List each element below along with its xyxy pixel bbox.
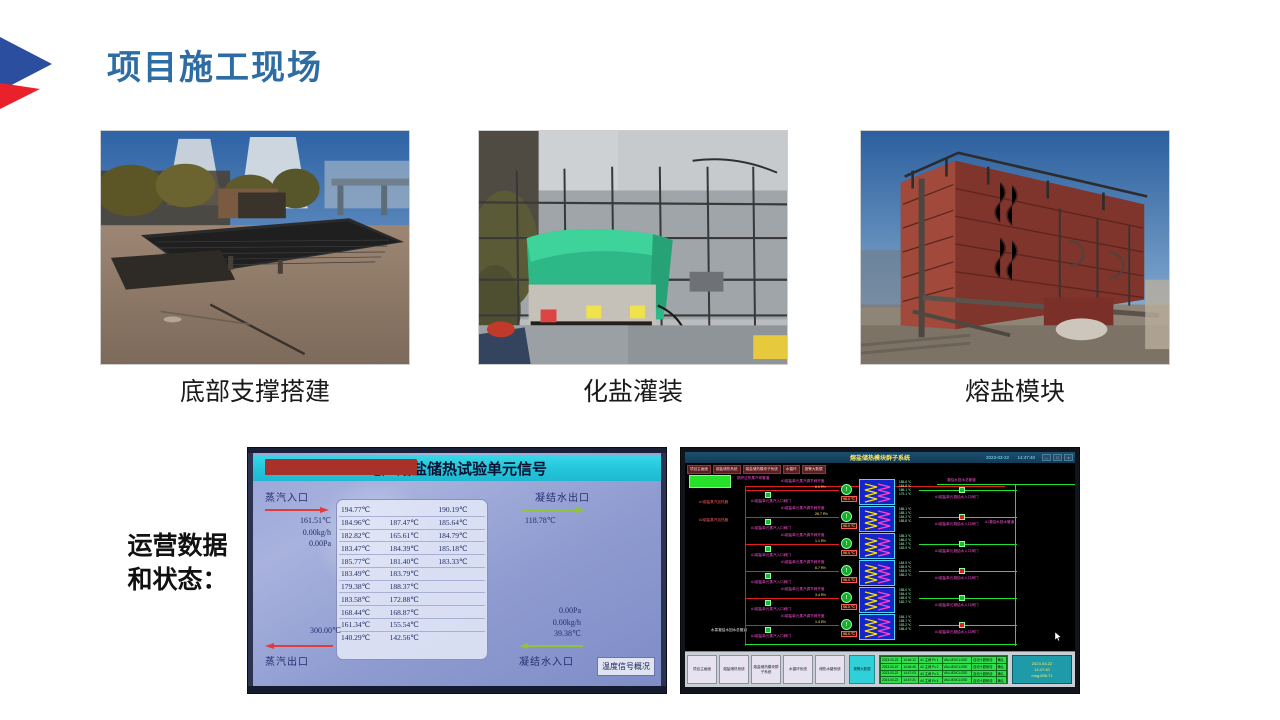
module-temperature-value: 185.8 ℃ [899, 519, 911, 523]
alarm-log-row[interactable]: 2023-03-2214:47:03#3 主阀 Pv 3VALUE0/CLOSE… [881, 670, 1007, 677]
steam-inlet-arrow [265, 507, 329, 513]
alarm-log-table: 2023-03-2214:46:12#1 主阀 Pv 1VALUE0/CLOSE… [880, 656, 1007, 684]
scada-nav-buttons[interactable]: 项目主画面熔盐储热系统熔盐储热模块群子系统水循环系统储热水罐系统 [685, 652, 847, 687]
temperature-cell: 168.44℃ [339, 606, 388, 619]
condensate-inlet-block: 凝结水入口 [519, 653, 574, 668]
scada-nav-button[interactable]: 项目主画面 [687, 655, 717, 684]
scada-menu-item[interactable]: 熔盐储热模块子系统 [743, 465, 781, 474]
module-inlet-flow-label: #1熔盐单元蒸汽调节阀开度 [781, 614, 825, 619]
scada-time: 14:47:40 [1017, 455, 1035, 460]
steam-riser-pipe [745, 486, 746, 646]
steam-outlet-block: 蒸汽出口 [265, 653, 309, 668]
scada-menu-item[interactable]: 熔盐储热系统 [713, 465, 741, 474]
scada-bottom-bar: 项目主画面熔盐储热系统熔盐储热模块群子系统水循环系统储热水罐系统 报警大数据 2… [685, 651, 1075, 687]
photo-foundation [100, 130, 410, 365]
alarm-log-cell: VALUE0/CLOSE [942, 663, 971, 670]
alarm-log-cell: 14:46:45 [902, 663, 919, 670]
photo-salt-filling [478, 130, 788, 365]
module-outlet-valve-icon[interactable] [959, 514, 965, 520]
temperature-cell: 183.79℃ [388, 567, 437, 580]
module-control-valve-icon[interactable]: ! [841, 511, 852, 522]
temperature-cell: 188.37℃ [388, 580, 437, 593]
module-condensate-branch-pipe [919, 490, 1017, 491]
module-inlet-temp-chip: 96.0 ℃ [841, 550, 857, 556]
temperature-cell: 172.88℃ [388, 593, 437, 606]
module-valve-square-icon[interactable] [765, 546, 771, 552]
module-inlet-temp-chip: 96.0 ℃ [841, 631, 857, 637]
module-control-valve-icon[interactable]: ! [841, 592, 852, 603]
module-valve-square-icon[interactable] [765, 519, 771, 525]
heat-exchanger-coil-icon [863, 536, 893, 558]
module-outlet-valve-label: #1熔盐单元凝结水入口阀门 [935, 549, 979, 554]
module-steam-branch-pipe [745, 544, 839, 545]
module-outlet-valve-icon[interactable] [959, 541, 965, 547]
module-inlet-valve-label: #1熔盐单元蒸汽入口阀门 [751, 499, 791, 504]
temperature-cell: 194.77℃ [339, 504, 388, 516]
alarm-log-cell: 自动十超驶动 [972, 670, 996, 677]
temperature-cell [436, 593, 485, 606]
module-condensate-branch-pipe [919, 598, 1017, 599]
condensate-inlet-flow: 0.00kg/h [515, 617, 581, 629]
module-valve-square-icon[interactable] [765, 573, 771, 579]
molten-salt-module-scada: 熔盐储热模块群子系统 2023-03-22 14:47:40 – □ × 项目主… [680, 447, 1080, 694]
steam-salt-unit-signal-hmi: 电厂熔盐储热试验单元信号 蒸汽入口 161.51℃ 0.00kg/h 0.00P… [247, 447, 667, 694]
module-temperature-readout: 184.9 ℃185.5 ℃183.6 ℃186.2 ℃ [899, 561, 911, 577]
alarm-log-cell: 2023-03-22 [881, 657, 902, 664]
module-temperature-value: 182.7 ℃ [899, 600, 911, 604]
temperature-row: 182.82℃165.61℃184.79℃ [339, 529, 485, 542]
salt-storage-module[interactable] [859, 614, 895, 640]
temperature-row: 183.49℃183.79℃ [339, 567, 485, 580]
condensate-outlet-block: 凝结水出口 [535, 489, 590, 504]
window-controls[interactable]: – □ × [1042, 454, 1073, 461]
temperature-row: 194.77℃190.19℃ [339, 504, 485, 516]
temperature-cell: 184.96℃ [339, 516, 388, 529]
alarm-log-row[interactable]: 2023-03-2214:46:45#2 主阀 Pv 2VALUE0/CLOSE… [881, 663, 1007, 670]
temperature-cell [436, 631, 485, 643]
alarm-log-cell: VALUE0/CLOSE [942, 677, 971, 684]
condensate-inlet-temperature: 39.38℃ [515, 628, 581, 640]
steam-outlet-label: 蒸汽出口 [265, 653, 309, 668]
temperature-cell [436, 567, 485, 580]
condensate-inlet-pressure: 0.00Pa [515, 605, 581, 617]
temperature-cell: 181.40℃ [388, 555, 437, 568]
temperature-cell: 140.29℃ [339, 631, 388, 643]
module-steam-branch-pipe [745, 490, 839, 491]
alarm-log-cell: #3 主阀 Pv 3 [919, 670, 942, 677]
condensate-outlet-label: 凝结水出口 [535, 489, 590, 504]
temperature-cell: 183.49℃ [339, 567, 388, 580]
caption-foundation: 底部支撑搭建 [100, 372, 410, 408]
temperature-row: 183.58℃172.88℃ [339, 593, 485, 606]
module-inlet-temp-chip: 96.0 ℃ [841, 523, 857, 529]
module-flow-value: 26.7 Rh [815, 512, 828, 516]
module-inlet-flow-label: #1熔盐单元蒸汽调节阀开度 [781, 506, 825, 511]
temperature-cell: 185.77℃ [339, 555, 388, 568]
steam-inlet-pressure: 0.00Pa [265, 538, 331, 550]
temperature-row: 184.96℃187.47℃185.64℃ [339, 516, 485, 529]
label-left-branch-1: #1熔盐蒸汽加热器 [699, 500, 728, 505]
temperature-cell: 155.54℃ [388, 619, 437, 632]
module-inlet-valve-label: #1熔盐单元蒸汽入口阀门 [751, 553, 791, 558]
alarm-log-cell: VALUE0/CLOSE [942, 657, 971, 664]
module-temperature-value: 179.1 ℃ [899, 492, 911, 496]
module-outlet-valve-icon[interactable] [959, 622, 965, 628]
heat-exchanger-coil-icon [863, 617, 893, 639]
label-header-steam-pipe: 锅炉过热蒸汽母管道 [737, 476, 769, 481]
salt-storage-module[interactable] [859, 479, 895, 505]
temperature-row: 168.44℃168.87℃ [339, 606, 485, 619]
module-flow-value: 3.4 Rh [815, 593, 826, 597]
module-condensate-branch-pipe [919, 517, 1017, 518]
module-steam-branch-pipe [745, 517, 839, 518]
temperature-signal-table: 194.77℃190.19℃184.96℃187.47℃185.64℃182.8… [336, 499, 488, 660]
alarm-log-cell: 确认 [996, 677, 1006, 684]
label-right-branch: #1凝结水回水管道 [985, 520, 1014, 525]
photo-salt-module [860, 130, 1170, 365]
steam-inlet-block: 蒸汽入口 [265, 489, 309, 504]
temperature-cell: 187.47℃ [388, 516, 437, 529]
ops-label-line2: 和状态： [95, 564, 260, 598]
close-icon[interactable]: × [1064, 454, 1073, 461]
mouse-cursor-icon [1055, 632, 1061, 641]
module-inlet-temp-chip: 96.0 ℃ [841, 577, 857, 583]
temperature-row: 161.34℃155.54℃ [339, 619, 485, 632]
steam-inlet-temperature: 161.51℃ [265, 515, 331, 527]
module-inlet-flow-label: #1熔盐单元蒸汽调节阀开度 [781, 587, 825, 592]
alarm-log-row[interactable]: 2023-03-2214:47:21#4 主阀 Pv 4VALUE0/CLOSE… [881, 677, 1007, 684]
condensate-riser-pipe [1015, 484, 1016, 646]
temperature-cell: 165.61℃ [388, 529, 437, 542]
module-temperature-readout: 185.6 ℃184.8 ℃186.1 ℃179.1 ℃ [899, 480, 911, 496]
module-inlet-flow-label: #1熔盐单元蒸汽调节阀开度 [781, 533, 825, 538]
temperature-cell: 179.38℃ [339, 580, 388, 593]
ops-data-label: 运营数据 和状态： [95, 530, 260, 598]
module-valve-square-icon[interactable] [765, 492, 771, 498]
alarm-log-cell: #1 主阀 Pv 1 [919, 657, 942, 664]
module-outlet-valve-icon[interactable] [959, 487, 965, 493]
temperature-overview-button[interactable]: 温度信号概况 [597, 657, 655, 676]
alarm-log-cell: 2023-03-22 [881, 670, 902, 677]
maximize-icon[interactable]: □ [1053, 454, 1062, 461]
temperature-cell: 161.34℃ [339, 619, 388, 632]
module-control-valve-icon[interactable]: ! [841, 538, 852, 549]
alarm-log-cell: 自动十超驶动 [972, 663, 996, 670]
status-box: 2023-03-22 14:47:40 msg:896:71 [1012, 655, 1072, 684]
heat-exchanger-coil-icon [863, 482, 893, 504]
redacted-plant-name [265, 459, 417, 475]
salt-storage-module[interactable] [859, 533, 895, 559]
alarm-log-cell: 确认 [996, 663, 1006, 670]
temperature-cell [436, 580, 485, 593]
module-flow-value: 6.0 Rh [815, 485, 826, 489]
company-chevron-logo [0, 27, 64, 115]
module-control-valve-icon[interactable]: ! [841, 565, 852, 576]
temperature-cell: 168.87℃ [388, 606, 437, 619]
alarm-log-cell: 确认 [996, 657, 1006, 664]
condensate-inlet-label: 凝结水入口 [519, 653, 574, 668]
caption-row: 底部支撑搭建 化盐灌装 熔盐模块 [0, 372, 1280, 408]
temperature-table: 194.77℃190.19℃184.96℃187.47℃185.64℃182.8… [339, 504, 485, 644]
module-temperature-value: 183.9 ℃ [899, 546, 911, 550]
scada-nav-button[interactable]: 熔盐储热模块群子系统 [751, 655, 781, 684]
steam-inlet-flow: 0.00kg/h [265, 527, 331, 539]
ops-label-line1: 运营数据 [127, 533, 227, 560]
module-outlet-valve-icon[interactable] [959, 568, 965, 574]
temperature-cell: 185.64℃ [436, 516, 485, 529]
module-outlet-valve-icon[interactable] [959, 595, 965, 601]
page-title: 项目施工现场 [107, 40, 323, 89]
heat-exchanger-coil-icon [863, 590, 893, 612]
module-condensate-branch-pipe [919, 625, 1017, 626]
temperature-cell: 182.82℃ [339, 529, 388, 542]
alarm-log-cell: 2023-03-22 [881, 663, 902, 670]
steam-outlet-temperature: 300.00℃ [267, 625, 341, 637]
alarm-log-cell: #4 主阀 Pv 4 [919, 677, 942, 684]
scada-title-bar: 熔盐储热模块群子系统 2023-03-22 14:47:40 – □ × [685, 452, 1075, 463]
module-temperature-readout: 185.0 ℃184.4 ℃185.9 ℃182.7 ℃ [899, 588, 911, 604]
alarm-tab-button[interactable]: 报警大数据 [849, 655, 875, 684]
hmi-screen: 电厂熔盐储热试验单元信号 蒸汽入口 161.51℃ 0.00kg/h 0.00P… [253, 453, 661, 686]
label-left-branch-2: #2熔盐蒸汽加热器 [699, 518, 728, 523]
scada-title-text: 熔盐储热模块群子系统 [850, 453, 910, 462]
run-status-indicator [689, 475, 731, 488]
temperature-cell: 183.58℃ [339, 593, 388, 606]
condensate-header-pipe [937, 484, 1075, 485]
condensate-inlet-values: 0.00Pa 0.00kg/h 39.38℃ [515, 605, 581, 640]
slide-root: 项目施工现场 [0, 0, 1280, 720]
hmi-bezel-bottom [248, 686, 666, 693]
temperature-cell: 142.56℃ [388, 631, 437, 643]
scada-nav-button[interactable]: 熔盐储热系统 [719, 655, 749, 684]
alarm-log-row[interactable]: 2023-03-2214:46:12#1 主阀 Pv 1VALUE0/CLOSE… [881, 657, 1007, 664]
module-temperature-value: 186.4 ℃ [899, 627, 911, 631]
minimize-icon[interactable]: – [1042, 454, 1051, 461]
condensate-outlet-temperature: 118.78℃ [525, 515, 556, 527]
scada-menu-bar[interactable]: 项目主画面熔盐储热系统熔盐储热模块子系统水循环报警大数据 [687, 465, 826, 474]
scada-menu-item[interactable]: 报警大数据 [802, 465, 826, 474]
temperature-row: 183.47℃184.39℃185.18℃ [339, 542, 485, 555]
heat-exchanger-coil-icon [863, 563, 893, 585]
temperature-cell: 190.19℃ [436, 504, 485, 516]
module-outlet-valve-label: #1熔盐单元凝结水入口阀门 [935, 522, 979, 527]
module-inlet-valve-label: #1熔盐单元蒸汽入口阀门 [751, 526, 791, 531]
alarm-log-cell: 自动十超驶动 [972, 677, 996, 684]
photo-row [0, 130, 1280, 370]
module-steam-branch-pipe [745, 625, 839, 626]
alarm-log-panel[interactable]: 2023-03-2214:46:12#1 主阀 Pv 1VALUE0/CLOSE… [879, 655, 1008, 684]
scada-menu-item[interactable]: 项目主画面 [687, 465, 711, 474]
steam-inlet-values: 161.51℃ 0.00kg/h 0.00Pa [265, 515, 331, 550]
temperature-row: 185.77℃181.40℃183.33℃ [339, 555, 485, 568]
temperature-cell: 185.18℃ [436, 542, 485, 555]
steam-inlet-label: 蒸汽入口 [265, 489, 309, 504]
temperature-cell [436, 606, 485, 619]
module-temperature-readout: 184.1 ℃185.7 ℃183.2 ℃186.4 ℃ [899, 615, 911, 631]
module-valve-square-icon[interactable] [765, 627, 771, 633]
module-control-valve-icon[interactable]: ! [841, 484, 852, 495]
module-temperature-readout: 186.1 ℃185.1 ℃184.2 ℃185.8 ℃ [899, 507, 911, 523]
alarm-log-cell: 确认 [996, 670, 1006, 677]
condensate-outlet-arrow [521, 507, 585, 513]
condensate-inlet-arrow [519, 643, 583, 649]
module-condensate-branch-pipe [919, 544, 1017, 545]
scada-nav-button[interactable]: 储热水罐系统 [815, 655, 845, 684]
alarm-log-cell: #2 主阀 Pv 2 [919, 663, 942, 670]
module-temperature-value: 186.2 ℃ [899, 573, 911, 577]
module-control-valve-icon[interactable]: ! [841, 619, 852, 630]
scada-nav-button[interactable]: 水循环系统 [783, 655, 813, 684]
module-outlet-valve-label: #1熔盐单元凝结水入口阀门 [935, 603, 979, 608]
hmi-title-bar: 电厂熔盐储热试验单元信号 [253, 455, 661, 481]
alarm-log-cell: 自动十超驶动 [972, 657, 996, 664]
temperature-row: 140.29℃142.56℃ [339, 631, 485, 643]
condensate-return-pipe [745, 644, 1017, 645]
module-steam-branch-pipe [745, 598, 839, 599]
module-temperature-readout: 185.3 ℃186.0 ℃184.7 ℃183.9 ℃ [899, 534, 911, 550]
module-steam-branch-pipe [745, 571, 839, 572]
module-inlet-valve-label: #1熔盐单元蒸汽入口阀门 [751, 634, 791, 639]
salt-storage-module[interactable] [859, 587, 895, 613]
label-right-header: 凝结水回水总管道 [947, 478, 976, 483]
module-inlet-valve-label: #1熔盐单元蒸汽入口阀门 [751, 580, 791, 585]
scada-menu-item[interactable]: 水循环 [783, 465, 800, 474]
module-inlet-flow-label: #1熔盐单元蒸汽调节阀开度 [781, 560, 825, 565]
temperature-cell: 184.39℃ [388, 542, 437, 555]
salt-storage-module[interactable] [859, 506, 895, 532]
temperature-cell: 183.47℃ [339, 542, 388, 555]
module-outlet-valve-label: #1熔盐单元凝结水入口阀门 [935, 495, 979, 500]
salt-storage-module[interactable] [859, 560, 895, 586]
heat-exchanger-coil-icon [863, 509, 893, 531]
alarm-log-cell: 14:46:12 [902, 657, 919, 664]
label-bottom-header: 水泵凝结水回水总管道 [711, 628, 747, 633]
module-inlet-temp-chip: 96.0 ℃ [841, 604, 857, 610]
condensate-outlet-values: 118.78℃ [525, 515, 556, 527]
module-flow-value: 6.7 Rh [815, 566, 826, 570]
temperature-row: 179.38℃188.37℃ [339, 580, 485, 593]
module-outlet-valve-label: #1熔盐单元凝结水入口阀门 [935, 576, 979, 581]
scada-date: 2023-03-22 [986, 455, 1009, 460]
module-inlet-valve-label: #1熔盐单元蒸汽入口阀门 [751, 607, 791, 612]
alarm-log-cell: VALUE0/CLOSE [942, 670, 971, 677]
alarm-log-cell: 2023-03-22 [881, 677, 902, 684]
temperature-cell [436, 619, 485, 632]
temperature-cell: 183.33℃ [436, 555, 485, 568]
module-flow-value: 1.4 Rh [815, 620, 826, 624]
module-condensate-branch-pipe [919, 571, 1017, 572]
module-inlet-flow-label: #1熔盐单元蒸汽调节阀开度 [781, 479, 825, 484]
module-valve-square-icon[interactable] [765, 600, 771, 606]
temperature-cell [388, 504, 437, 516]
steam-outlet-values: 300.00℃ [267, 625, 341, 637]
alarm-log-cell: 14:47:03 [902, 670, 919, 677]
temperature-cell: 184.79℃ [436, 529, 485, 542]
module-flow-value: 1.1 Rh [815, 539, 826, 543]
module-inlet-temp-chip: 96.0 ℃ [841, 496, 857, 502]
steam-outlet-arrow [265, 643, 333, 649]
scada-screen: 熔盐储热模块群子系统 2023-03-22 14:47:40 – □ × 项目主… [685, 452, 1075, 687]
caption-salt-filling: 化盐灌装 [478, 372, 788, 408]
alarm-log-cell: 14:47:21 [902, 677, 919, 684]
status-msg: msg:896:71 [1032, 673, 1053, 679]
module-outlet-valve-label: #1熔盐单元凝结水入口阀门 [935, 630, 979, 635]
caption-salt-module: 熔盐模块 [860, 372, 1170, 408]
